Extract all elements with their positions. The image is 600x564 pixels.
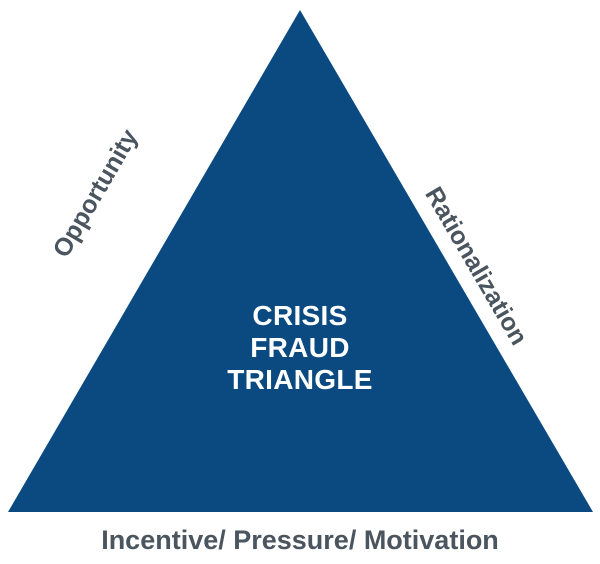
edge-label-incentive-pressure-motivation: Incentive/ Pressure/ Motivation (0, 524, 600, 556)
fraud-triangle-diagram: CRISIS FRAUD TRIANGLE Opportunity Ration… (0, 0, 600, 564)
triangle-shape (8, 10, 593, 512)
center-title-line-3: TRIANGLE (0, 364, 600, 396)
triangle-canvas (0, 0, 600, 564)
